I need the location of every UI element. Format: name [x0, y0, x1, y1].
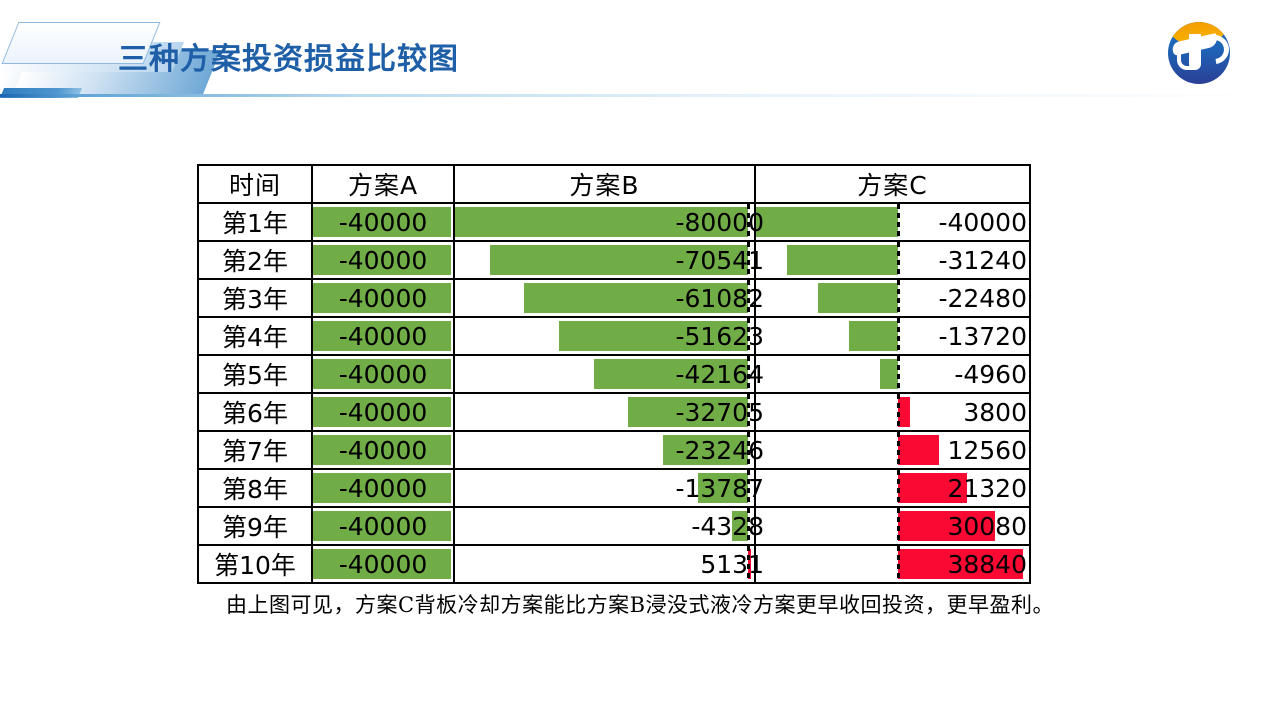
plan-a-cell: -40000	[312, 393, 454, 431]
plan-c-cell: -13720	[755, 317, 1030, 355]
year-label: 第4年	[198, 317, 312, 355]
plan-c-zero-axis	[897, 546, 900, 582]
company-logo-icon	[1168, 22, 1230, 84]
plan-b-cell: -42164	[454, 355, 755, 393]
plan-a-cell: -40000	[312, 203, 454, 241]
plan-c-databar	[849, 321, 898, 351]
plan-a-cell: -40000	[312, 241, 454, 279]
year-label: 第5年	[198, 355, 312, 393]
page-title: 三种方案投资损益比较图	[118, 34, 459, 78]
plan-c-cell: -22480	[755, 279, 1030, 317]
cell-value: -70541	[675, 242, 764, 278]
cell-value: -40000	[313, 432, 453, 468]
table-row: 第4年-40000-51623-13720	[198, 317, 1030, 355]
plan-c-databar	[880, 359, 898, 389]
table-row: 第1年-40000-80000-40000	[198, 203, 1030, 241]
comparison-table-container: 时间 方案A 方案B 方案C 第1年-40000-80000-40000第2年-…	[197, 164, 1029, 584]
plan-b-cell: -70541	[454, 241, 755, 279]
year-label: 第1年	[198, 203, 312, 241]
plan-c-zero-axis	[897, 470, 900, 506]
cell-value: -40000	[313, 546, 453, 582]
cell-value: -40000	[313, 394, 453, 430]
column-header-plan-a: 方案A	[312, 165, 454, 203]
plan-c-cell: 21320	[755, 469, 1030, 507]
year-label: 第3年	[198, 279, 312, 317]
table-row: 第7年-40000-2324612560	[198, 431, 1030, 469]
table-row: 第10年-40000513138840	[198, 545, 1030, 583]
table-row: 第8年-40000-1378721320	[198, 469, 1030, 507]
column-header-plan-b: 方案B	[454, 165, 755, 203]
table-body: 第1年-40000-80000-40000第2年-40000-70541-312…	[198, 203, 1030, 583]
plan-c-zero-axis	[897, 318, 900, 354]
year-label: 第10年	[198, 545, 312, 583]
cell-value: -31240	[938, 242, 1027, 278]
cell-value: -13720	[938, 318, 1027, 354]
plan-b-cell: -61082	[454, 279, 755, 317]
table-row: 第6年-40000-327053800	[198, 393, 1030, 431]
cell-value: -13787	[675, 470, 764, 506]
plan-c-zero-axis	[897, 432, 900, 468]
cell-value: 3800	[963, 394, 1027, 430]
table-header-row: 时间 方案A 方案B 方案C	[198, 165, 1030, 203]
cell-value: -40000	[938, 204, 1027, 240]
cell-value: -51623	[675, 318, 764, 354]
logo-circle	[1168, 22, 1230, 84]
plan-a-cell: -40000	[312, 431, 454, 469]
cell-value: -23246	[675, 432, 764, 468]
plan-a-cell: -40000	[312, 507, 454, 545]
plan-b-cell: -32705	[454, 393, 755, 431]
cell-value: -40000	[313, 280, 453, 316]
plan-c-cell: 38840	[755, 545, 1030, 583]
table-row: 第9年-40000-432830080	[198, 507, 1030, 545]
table-row: 第2年-40000-70541-31240	[198, 241, 1030, 279]
plan-c-databar	[756, 207, 898, 237]
year-label: 第8年	[198, 469, 312, 507]
cell-value: -42164	[675, 356, 764, 392]
cell-value: -80000	[675, 204, 764, 240]
year-label: 第9年	[198, 507, 312, 545]
column-header-plan-c: 方案C	[755, 165, 1030, 203]
plan-c-cell: -4960	[755, 355, 1030, 393]
plan-c-zero-axis	[897, 356, 900, 392]
year-label: 第2年	[198, 241, 312, 279]
cell-value: 38840	[947, 546, 1027, 582]
plan-c-zero-axis	[897, 280, 900, 316]
table-row: 第3年-40000-61082-22480	[198, 279, 1030, 317]
plan-a-cell: -40000	[312, 355, 454, 393]
cell-value: -4960	[954, 356, 1027, 392]
plan-a-cell: -40000	[312, 545, 454, 583]
cell-value: -32705	[675, 394, 764, 430]
plan-c-cell: 3800	[755, 393, 1030, 431]
plan-c-cell: -40000	[755, 203, 1030, 241]
banner-divider	[0, 94, 1280, 97]
plan-c-zero-axis	[897, 508, 900, 544]
plan-c-cell: 30080	[755, 507, 1030, 545]
plan-b-cell: 5131	[454, 545, 755, 583]
plan-b-cell: -13787	[454, 469, 755, 507]
plan-a-cell: -40000	[312, 317, 454, 355]
plan-c-zero-axis	[897, 242, 900, 278]
plan-b-cell: -4328	[454, 507, 755, 545]
cell-value: -40000	[313, 508, 453, 544]
plan-c-cell: 12560	[755, 431, 1030, 469]
cell-value: -40000	[313, 242, 453, 278]
plan-c-cell: -31240	[755, 241, 1030, 279]
plan-c-zero-axis	[897, 204, 900, 240]
chart-caption: 由上图可见，方案C背板冷却方案能比方案B浸没式液冷方案更早收回投资，更早盈利。	[0, 589, 1280, 619]
year-label: 第7年	[198, 431, 312, 469]
year-label: 第6年	[198, 393, 312, 431]
plan-c-databar	[898, 435, 939, 465]
plan-c-zero-axis	[897, 394, 900, 430]
cell-value: -40000	[313, 356, 453, 392]
cell-value: -40000	[313, 318, 453, 354]
slide-header: 三种方案投资损益比较图	[0, 0, 1280, 100]
cell-value: -40000	[313, 204, 453, 240]
plan-a-cell: -40000	[312, 469, 454, 507]
plan-b-cell: -51623	[454, 317, 755, 355]
table-row: 第5年-40000-42164-4960	[198, 355, 1030, 393]
cell-value: 21320	[947, 470, 1027, 506]
comparison-table: 时间 方案A 方案B 方案C 第1年-40000-80000-40000第2年-…	[197, 164, 1031, 584]
cell-value: 30080	[947, 508, 1027, 544]
plan-c-databar	[818, 283, 898, 313]
cell-value: -40000	[313, 470, 453, 506]
cell-value: -4328	[691, 508, 764, 544]
cell-value: -22480	[938, 280, 1027, 316]
cell-value: 12560	[947, 432, 1027, 468]
column-header-time: 时间	[198, 165, 312, 203]
cell-value: -61082	[675, 280, 764, 316]
cell-value: 5131	[700, 546, 764, 582]
plan-b-cell: -80000	[454, 203, 755, 241]
plan-c-databar	[787, 245, 898, 275]
plan-b-cell: -23246	[454, 431, 755, 469]
plan-a-cell: -40000	[312, 279, 454, 317]
